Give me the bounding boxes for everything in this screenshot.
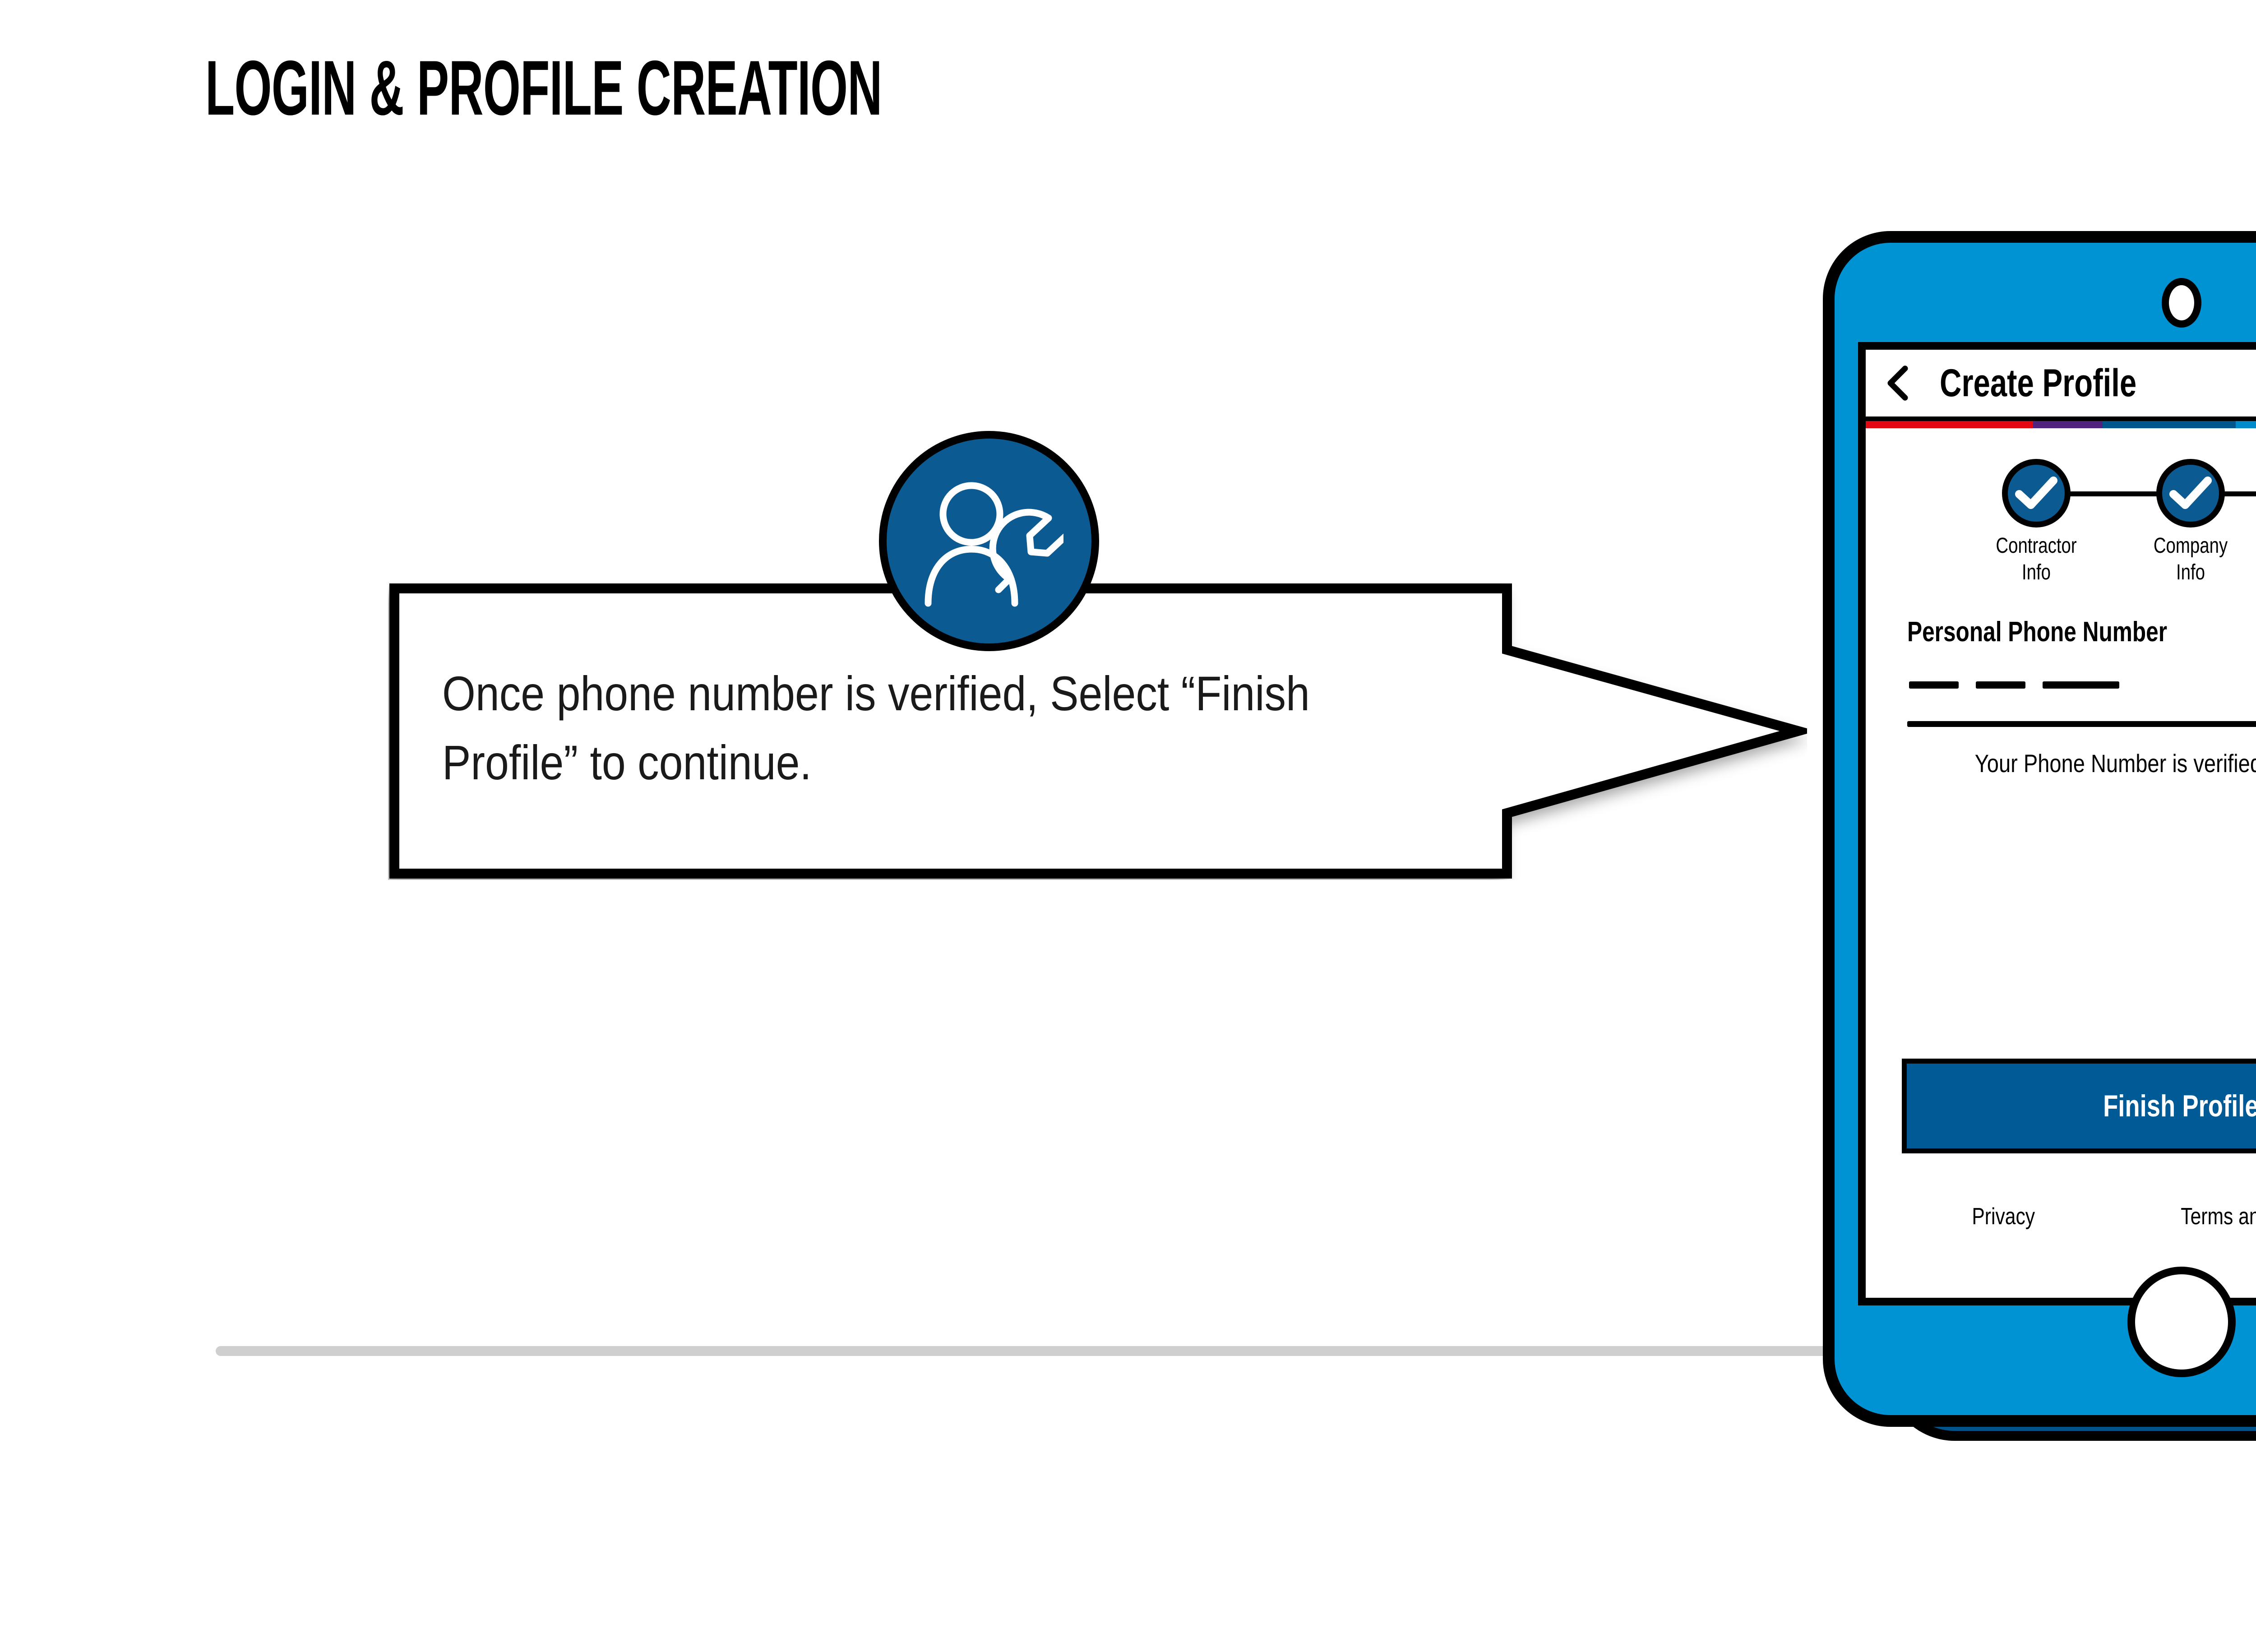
phone-device: Create Profile — [1823, 231, 2256, 1427]
stepper-label-company-info: Company Info — [2136, 533, 2245, 586]
speaker-slot-icon — [2162, 278, 2201, 328]
page-title: LOGIN & PROFILE CREATION — [205, 43, 882, 133]
finish-profile-label: Finish Profile — [2103, 1088, 2256, 1124]
stepper-label-contractor-info: Contractor Info — [1982, 533, 2090, 586]
supergraphic-segment-purple — [2033, 421, 2103, 428]
contractor-badge — [879, 431, 1099, 651]
phone-number-input-row[interactable] — [1907, 669, 2256, 717]
stepper-step-contractor-info[interactable] — [2002, 459, 2071, 528]
mask-dash — [1976, 681, 2025, 689]
terms-link[interactable]: Terms and Conditions — [2181, 1203, 2256, 1230]
stepper-step-company-info[interactable] — [2156, 459, 2225, 528]
chevron-left-icon[interactable] — [1886, 365, 1910, 401]
app-title: Create Profile — [1940, 361, 2136, 406]
callout-text: Once phone number is verified, Select “F… — [442, 659, 1367, 797]
phone-screen: Create Profile — [1858, 342, 2256, 1305]
app-header: Create Profile — [1866, 350, 2256, 416]
slide-root: LOGIN & PROFILE CREATION BOSCH Once phon… — [0, 0, 2256, 1652]
finish-profile-button[interactable]: Finish Profile — [1902, 1059, 2256, 1153]
callout-bubble: Once phone number is verified, Select “F… — [388, 582, 1807, 880]
supergraphic-segment-dark-blue — [2103, 421, 2236, 428]
mask-dash — [2043, 681, 2119, 689]
phone-number-masked-value — [1909, 681, 2119, 689]
stepper-label-line1: Contractor — [1982, 533, 2090, 560]
phone-verified-note: Your Phone Number is verified successful… — [1951, 749, 2256, 778]
contractor-person-wrench-icon — [915, 473, 1063, 609]
stepper-label-line2: Info — [1982, 560, 2090, 586]
supergraphic-segment-red — [1866, 421, 2033, 428]
phone-number-field-block: Personal Phone Number Your Phone Number … — [1907, 616, 2256, 778]
phone-number-label: Personal Phone Number — [1907, 616, 2256, 648]
phone-number-underline — [1907, 721, 2256, 727]
bosch-supergraphic — [1866, 416, 2256, 428]
supergraphic-segment-light-blue — [2236, 421, 2256, 428]
stepper-label-line2: Info — [2136, 560, 2245, 586]
stepper-label-line1: Company — [2136, 533, 2245, 560]
check-icon — [2013, 474, 2060, 512]
legal-links: Privacy Terms and Conditions — [1920, 1203, 2256, 1230]
stepper-labels: Contractor Info Company Info Phone Verif… — [1951, 533, 2256, 591]
profile-stepper — [1951, 459, 2256, 527]
stepper-connector-2 — [2221, 491, 2256, 496]
home-button-icon[interactable] — [2127, 1267, 2236, 1377]
check-icon — [2167, 474, 2214, 512]
mask-dash — [1909, 681, 1959, 689]
privacy-link[interactable]: Privacy — [1972, 1203, 2035, 1230]
